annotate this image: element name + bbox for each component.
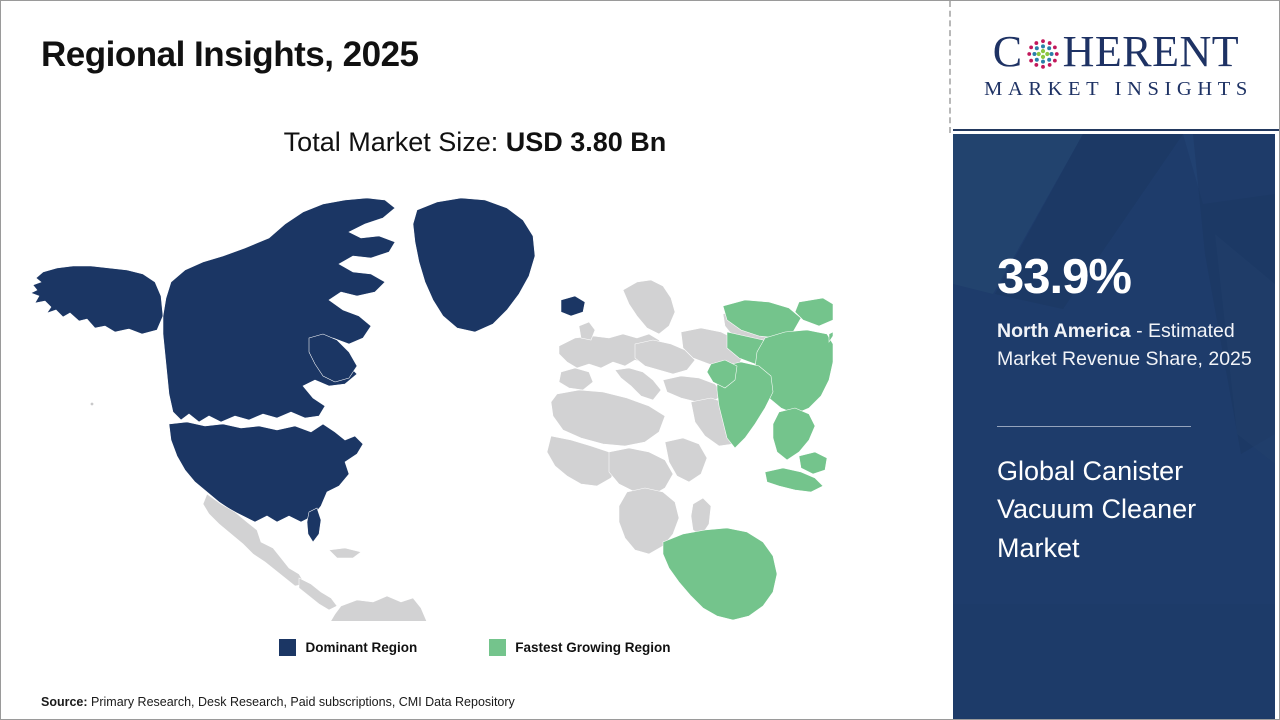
source-label: Source: <box>41 695 88 709</box>
region-canada[interactable] <box>163 198 395 422</box>
stat-region-name: North America <box>997 320 1131 342</box>
world-map[interactable] <box>23 186 833 621</box>
page-title: Regional Insights, 2025 <box>41 35 419 75</box>
source-note: Source: Primary Research, Desk Research,… <box>41 695 515 709</box>
stat-panel-content: 33.9% North America - Estimated Market R… <box>997 134 1265 719</box>
logo-letters-herent: HERENT <box>1063 30 1240 74</box>
vertical-dashed-divider <box>949 1 951 133</box>
logo-letter-c: C <box>993 30 1023 74</box>
total-market-size-value: USD 3.80 Bn <box>506 127 667 157</box>
square-swatch-icon <box>489 639 506 656</box>
logo-wordmark: C <box>993 30 1239 74</box>
region-iceland[interactable] <box>561 296 585 316</box>
brand-logo[interactable]: C <box>953 2 1279 131</box>
square-swatch-icon <box>279 639 296 656</box>
region-southeast-asia[interactable] <box>773 408 815 460</box>
total-market-size: Total Market Size: USD 3.80 Bn <box>1 127 949 158</box>
regional-insights-infographic: Regional Insights, 2025 Total Market Siz… <box>0 0 1280 720</box>
region-united-states[interactable] <box>169 422 363 522</box>
logo-subtitle: MARKET INSIGHTS <box>979 78 1253 101</box>
stat-panel: 33.9% North America - Estimated Market R… <box>953 134 1275 719</box>
world-map-container <box>23 186 833 621</box>
source-text: Primary Research, Desk Research, Paid su… <box>88 695 515 709</box>
legend-item-dominant[interactable]: Dominant Region <box>279 639 417 656</box>
globe-dots-icon <box>1024 35 1062 73</box>
stat-description: North America - Estimated Market Revenue… <box>997 318 1263 373</box>
region-mongolia[interactable] <box>795 298 833 326</box>
region-australia[interactable] <box>663 528 777 620</box>
region-caribbean[interactable] <box>329 548 361 558</box>
region-florida[interactable] <box>307 508 321 542</box>
region-scandinavia[interactable] <box>623 280 675 334</box>
region-greenland[interactable] <box>413 198 535 332</box>
map-legend: Dominant Region Fastest Growing Region <box>1 639 949 656</box>
region-italy-balkans[interactable] <box>615 368 661 400</box>
region-borneo[interactable] <box>799 452 827 474</box>
region-south-america[interactable] <box>327 596 437 621</box>
region-iberia[interactable] <box>559 368 593 390</box>
region-alaska[interactable] <box>31 266 163 334</box>
legend-label-fastest-growing: Fastest Growing Region <box>515 640 670 655</box>
total-market-size-label: Total Market Size: <box>284 127 506 157</box>
stat-value: 33.9% <box>997 253 1131 302</box>
stat-divider-rule <box>997 426 1191 427</box>
region-central-america[interactable] <box>299 578 337 610</box>
legend-label-dominant: Dominant Region <box>305 640 417 655</box>
market-name: Global Canister Vacuum Cleaner Market <box>997 452 1265 567</box>
map-ocean-dot <box>91 403 94 406</box>
map-content-area: Regional Insights, 2025 Total Market Siz… <box>1 1 949 719</box>
legend-item-fastest-growing[interactable]: Fastest Growing Region <box>489 639 670 656</box>
